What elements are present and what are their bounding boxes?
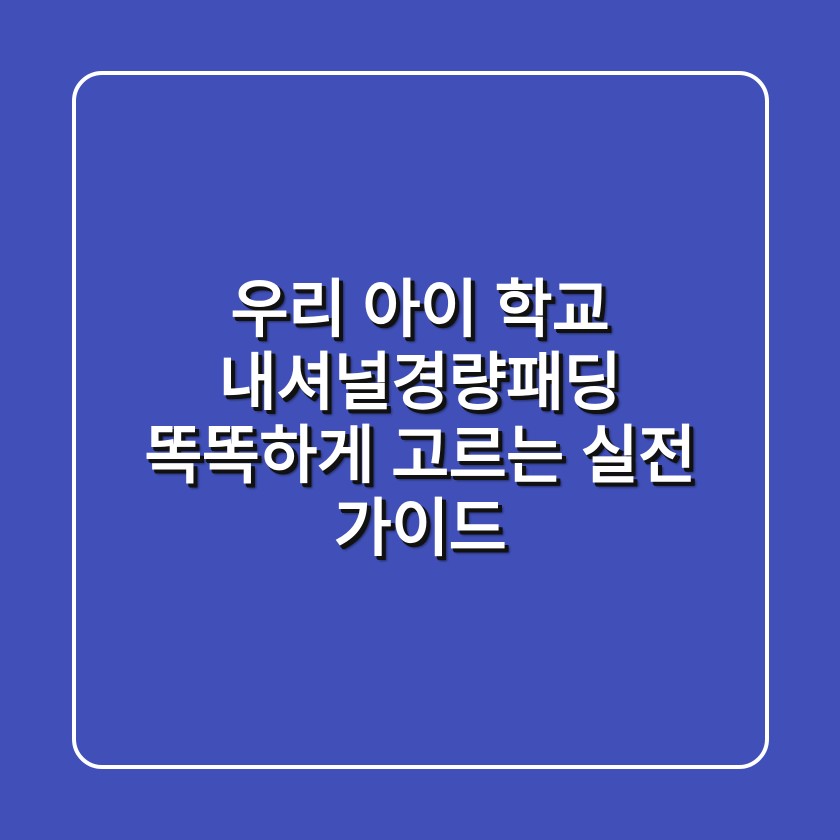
headline-line-1: 우리 아이 학교 xyxy=(84,274,756,347)
headline-line-4: 가이드 xyxy=(84,493,756,566)
thumbnail-card: 우리 아이 학교 내셔널경량패딩 똑똑하게 고르는 실전 가이드 xyxy=(0,0,840,840)
headline-line-2: 내셔널경량패딩 xyxy=(84,347,756,420)
headline-block: 우리 아이 학교 내셔널경량패딩 똑똑하게 고르는 실전 가이드 xyxy=(0,0,840,840)
headline-line-3: 똑똑하게 고르는 실전 xyxy=(84,420,756,493)
